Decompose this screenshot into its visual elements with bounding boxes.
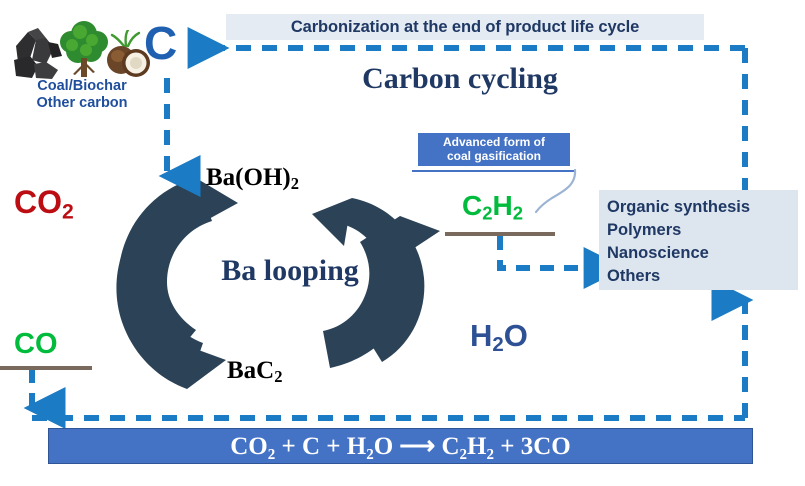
co2-subscript: 2: [62, 200, 74, 223]
c2h2-subscript-1: 2: [482, 203, 492, 224]
barium-carbide-label: BaC2: [227, 358, 282, 389]
h2o-h: H: [470, 318, 492, 353]
c2h2-species-label: C2H2: [462, 192, 523, 228]
bac2-body: BaC: [227, 357, 274, 384]
carbon-species-label: C: [144, 20, 176, 66]
feedstock-caption-line2: Other carbon: [12, 95, 152, 112]
diagram-canvas: Carbonization at the end of product life…: [0, 0, 805, 486]
baoh2-subscript: 2: [291, 174, 299, 193]
coal-chunks-icon: [12, 24, 64, 80]
co-species-label: CO: [14, 330, 58, 359]
advanced-gasification-callout: Advanced form of coal gasification: [418, 133, 570, 166]
callout-leader-curve: [530, 168, 586, 214]
dashed-c2h2-to-applications: [500, 236, 592, 268]
c2h2-underline-rule: [445, 232, 555, 236]
feedstock-caption: Coal/Biochar Other carbon: [12, 78, 152, 112]
feedstock-icon-row: [12, 18, 152, 80]
c2h2-subscript-2: 2: [513, 203, 523, 224]
baoh2-body: Ba(OH): [206, 164, 291, 191]
applications-box: Organic synthesis Polymers Nanoscience O…: [599, 190, 798, 290]
co2-formula-body: CO: [14, 184, 62, 220]
bac2-subscript: 2: [274, 367, 282, 386]
co-underline-rule: [0, 366, 92, 370]
h2o-species-label: H2O: [470, 320, 528, 360]
barium-hydroxide-label: Ba(OH)2: [206, 165, 299, 196]
co2-species-label: CO2: [14, 186, 74, 228]
application-item-2: Nanoscience: [607, 242, 798, 265]
feedstock-group: Coal/Biochar Other carbon: [12, 18, 152, 123]
tree-icon: [58, 18, 110, 80]
c2h2-c: C: [462, 190, 482, 221]
h2o-o: O: [504, 318, 528, 353]
application-item-1: Polymers: [607, 219, 798, 242]
callout-line2: coal gasification: [447, 149, 541, 163]
ba-looping-title: Ba looping: [175, 254, 405, 288]
feedstock-caption-line1: Coal/Biochar: [12, 78, 152, 95]
c2h2-h: H: [493, 190, 513, 221]
application-item-0: Organic synthesis: [607, 196, 798, 219]
callout-line1: Advanced form of: [443, 135, 545, 149]
carbonization-banner: Carbonization at the end of product life…: [226, 14, 704, 40]
carbon-cycling-title: Carbon cycling: [330, 62, 590, 96]
h2o-subscript: 2: [492, 333, 503, 356]
application-item-3: Others: [607, 265, 798, 288]
overall-reaction-equation: CO₂ + C + H₂O ⟶ C₂H₂ + 3CO: [48, 428, 753, 464]
